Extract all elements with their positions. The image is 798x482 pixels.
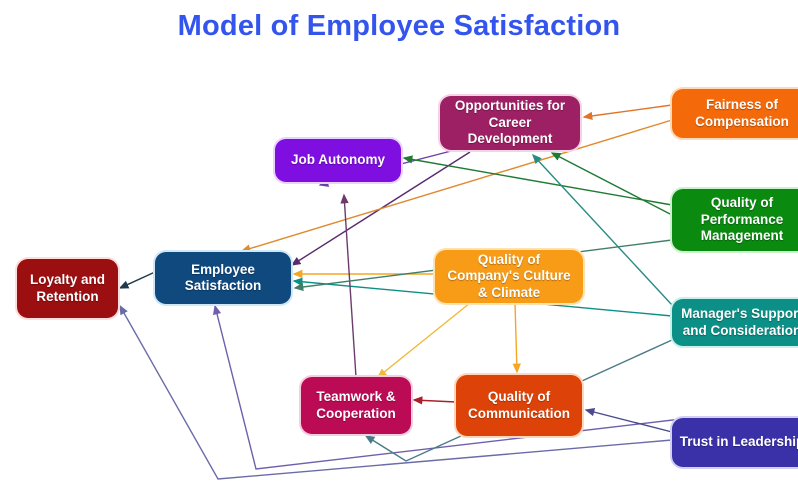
node-label-teamwork: Teamwork & Cooperation (307, 389, 405, 422)
node-support[interactable]: Manager's Support and Consideration (672, 299, 798, 346)
node-loyalty[interactable]: Loyalty and Retention (17, 259, 118, 318)
node-label-performance: Quality of Performance Management (678, 195, 798, 244)
node-label-trust: Trust in Leadership (678, 434, 798, 450)
node-label-fairness: Fairness of Compensation (678, 97, 798, 130)
edge-culture-to-teamwork (378, 303, 470, 377)
node-fairness[interactable]: Fairness of Compensation (672, 89, 798, 138)
node-satisfaction[interactable]: Employee Satisfaction (155, 252, 291, 304)
node-label-loyalty: Loyalty and Retention (23, 272, 112, 305)
edge-fairness-to-career (584, 105, 672, 117)
edge-communication-to-teamwork (414, 400, 456, 402)
edge-satisfaction-to-loyalty (120, 272, 155, 288)
node-career[interactable]: Opportunities for Career Development (440, 96, 580, 150)
node-performance[interactable]: Quality of Performance Management (672, 189, 798, 251)
node-label-satisfaction: Employee Satisfaction (161, 262, 285, 295)
node-autonomy[interactable]: Job Autonomy (275, 139, 401, 182)
node-label-support: Manager's Support and Consideration (678, 306, 798, 339)
edge-culture-to-communication (515, 303, 517, 372)
node-trust[interactable]: Trust in Leadership (672, 418, 798, 467)
node-communication[interactable]: Quality of Communication (456, 375, 582, 436)
edge-performance-to-autonomy (404, 158, 672, 205)
node-culture[interactable]: Quality of Company's Culture & Climate (435, 250, 583, 303)
diagram-canvas: Model of Employee Satisfaction Loyalty a… (0, 0, 798, 482)
node-label-culture: Quality of Company's Culture & Climate (441, 252, 577, 301)
node-label-career: Opportunities for Career Development (446, 98, 574, 147)
node-teamwork[interactable]: Teamwork & Cooperation (301, 377, 411, 434)
edge-performance-to-career (552, 153, 672, 215)
node-label-autonomy: Job Autonomy (281, 152, 395, 168)
node-label-communication: Quality of Communication (462, 389, 576, 422)
